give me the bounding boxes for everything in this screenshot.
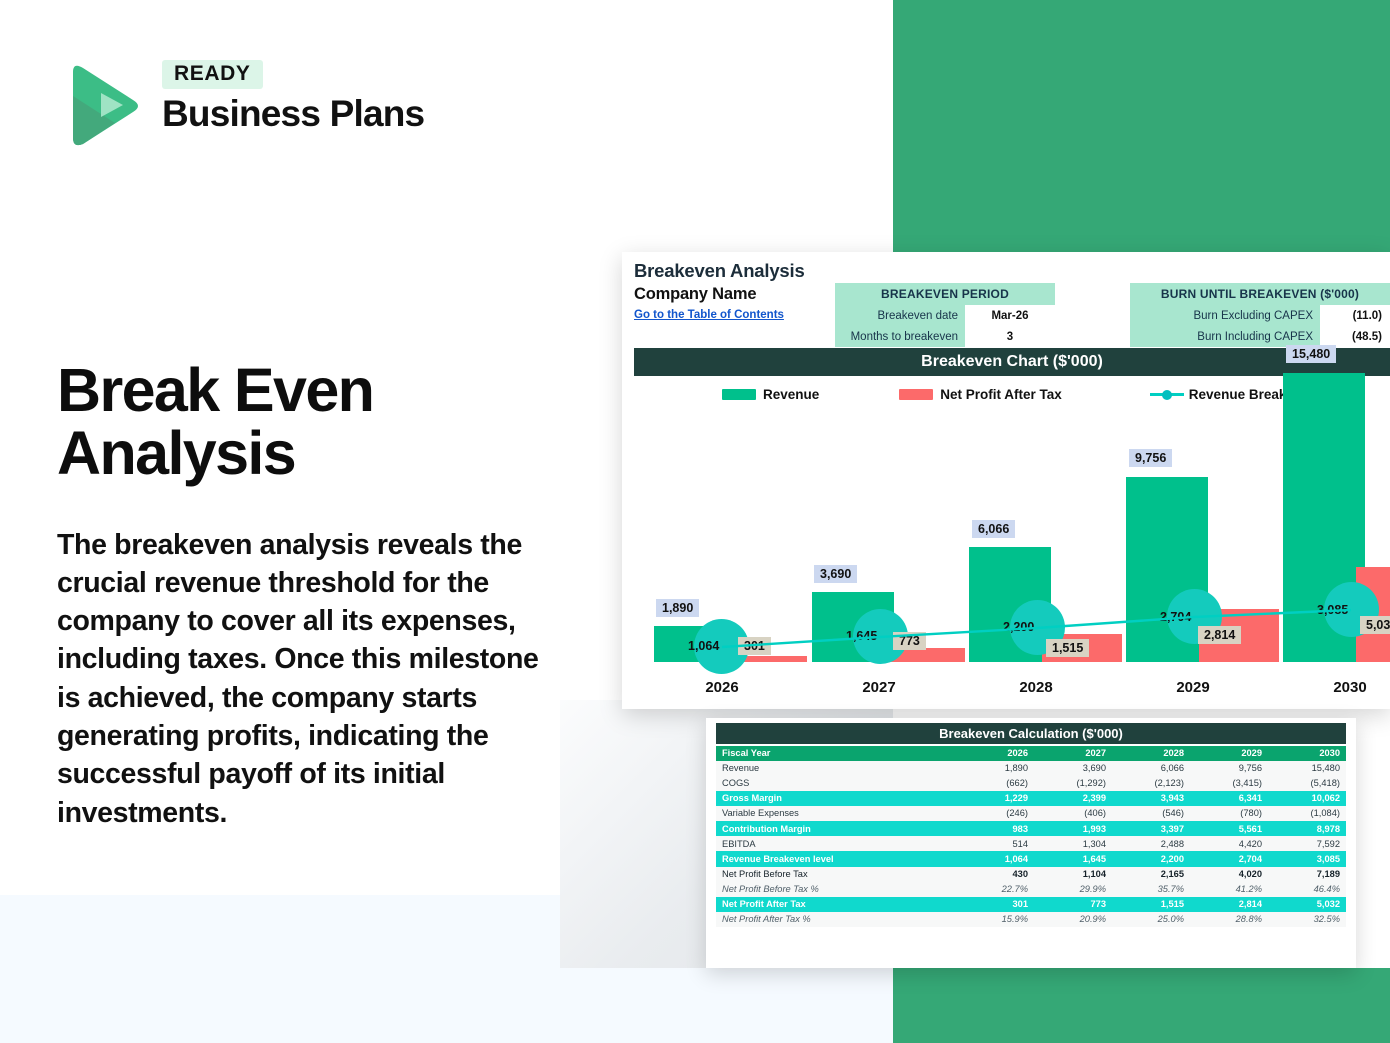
burn-including-capex-row: Burn Including CAPEX (48.5) [1130, 326, 1390, 347]
table-of-contents-link[interactable]: Go to the Table of Contents [634, 309, 784, 321]
table-cell: 983 [956, 821, 1034, 836]
table-cell: (3,415) [1190, 776, 1268, 791]
background-block-bottom-right [893, 968, 1390, 1043]
breakeven-period-card: BREAKEVEN PERIOD Breakeven date Mar-26 M… [835, 283, 1055, 347]
row-label: EBITDA [716, 836, 956, 851]
table-cell: 514 [956, 836, 1034, 851]
table-cell: (1,084) [1268, 806, 1346, 821]
table-cell: 3,943 [1112, 791, 1190, 806]
table-cell: 1,645 [1034, 851, 1112, 866]
table-cell: 5,032 [1268, 897, 1346, 912]
table-cell: 1,104 [1034, 867, 1112, 882]
table-cell: (1,292) [1034, 776, 1112, 791]
x-axis-tick-2028: 2028 [1019, 679, 1052, 696]
brand-name: Business Plans [162, 95, 492, 134]
months-to-breakeven-row: Months to breakeven 3 [835, 326, 1055, 347]
column-header-2030: 2030 [1268, 746, 1346, 761]
burn-including-capex-label: Burn Including CAPEX [1130, 326, 1320, 347]
table-cell: 5,561 [1190, 821, 1268, 836]
table-row: Gross Margin1,2292,3993,9436,34110,062 [716, 791, 1346, 806]
row-label: COGS [716, 776, 956, 791]
table-cell: 8,978 [1268, 821, 1346, 836]
legend-line-breakeven-icon [1150, 389, 1184, 400]
months-to-breakeven-value[interactable]: 3 [965, 326, 1055, 347]
legend-item-net-profit-after-tax[interactable]: Net Profit After Tax [899, 387, 1062, 402]
x-axis-tick-2027: 2027 [862, 679, 895, 696]
breakeven-date-row: Breakeven date Mar-26 [835, 305, 1055, 326]
burn-excluding-capex-value[interactable]: (11.0) [1320, 305, 1390, 326]
breakeven-date-label: Breakeven date [835, 305, 965, 326]
legend-label-npat: Net Profit After Tax [940, 387, 1062, 402]
table-title: Breakeven Calculation ($'000) [716, 723, 1346, 744]
table-cell: 1,993 [1034, 821, 1112, 836]
table-cell: 2,165 [1112, 867, 1190, 882]
x-axis-tick-2029: 2029 [1176, 679, 1209, 696]
column-header-2027: 2027 [1034, 746, 1112, 761]
column-header-fiscal-year: Fiscal Year [716, 746, 956, 761]
table-cell: 32.5% [1268, 912, 1346, 927]
breakeven-date-value[interactable]: Mar-26 [965, 305, 1055, 326]
breakeven-calculation-table: Fiscal Year 2026 2027 2028 2029 2030 Rev… [716, 746, 1346, 927]
x-axis-tick-2026: 2026 [705, 679, 738, 696]
table-cell: 3,690 [1034, 761, 1112, 776]
chart-legend: Revenue Net Profit After Tax Revenue Bre… [634, 382, 1390, 406]
row-label: Revenue [716, 761, 956, 776]
page-description: The breakeven analysis reveals the cruci… [57, 526, 547, 833]
table-cell: 1,304 [1034, 836, 1112, 851]
table-cell: 1,064 [956, 851, 1034, 866]
table-cell: 2,488 [1112, 836, 1190, 851]
table-cell: 1,890 [956, 761, 1034, 776]
brand-logo: READY Business Plans [57, 60, 437, 150]
row-label: Net Profit Before Tax % [716, 882, 956, 897]
ready-badge: READY [162, 60, 263, 89]
sheet-company-name: Company Name [634, 285, 756, 304]
sheet-title: Breakeven Analysis [634, 260, 805, 282]
row-label: Contribution Margin [716, 821, 956, 836]
table-cell: 29.9% [1034, 882, 1112, 897]
table-cell: 35.7% [1112, 882, 1190, 897]
table-cell: 15.9% [956, 912, 1034, 927]
table-row: Contribution Margin9831,9933,3975,5618,9… [716, 821, 1346, 836]
table-cell: (546) [1112, 806, 1190, 821]
column-header-2028: 2028 [1112, 746, 1190, 761]
burn-until-breakeven-card: BURN UNTIL BREAKEVEN ($'000) Burn Exclud… [1130, 283, 1390, 347]
legend-item-revenue[interactable]: Revenue [722, 387, 819, 402]
table-cell: 10,062 [1268, 791, 1346, 806]
row-label: Net Profit After Tax % [716, 912, 956, 927]
table-cell: 7,592 [1268, 836, 1346, 851]
breakeven-level-line [634, 417, 1390, 709]
burn-excluding-capex-label: Burn Excluding CAPEX [1130, 305, 1320, 326]
table-cell: (406) [1034, 806, 1112, 821]
chart-title: Breakeven Chart ($'000) [634, 348, 1390, 376]
brand-wordmark: READY Business Plans [162, 60, 492, 134]
burn-excluding-capex-row: Burn Excluding CAPEX (11.0) [1130, 305, 1390, 326]
breakeven-calculation-panel: Breakeven Calculation ($'000) Fiscal Yea… [706, 718, 1356, 968]
table-cell: 2,704 [1190, 851, 1268, 866]
legend-label-revenue: Revenue [763, 387, 819, 402]
table-cell: 6,341 [1190, 791, 1268, 806]
table-cell: 1,515 [1112, 897, 1190, 912]
table-body: Revenue1,8903,6906,0669,75615,480COGS(66… [716, 761, 1346, 927]
row-label: Net Profit Before Tax [716, 867, 956, 882]
table-cell: 430 [956, 867, 1034, 882]
table-cell: 3,397 [1112, 821, 1190, 836]
chart-plot-area: 1,890 1,064 301 3,690 1,645 773 6,066 2,… [634, 417, 1390, 709]
table-cell: 46.4% [1268, 882, 1346, 897]
table-row: COGS(662)(1,292)(2,123)(3,415)(5,418) [716, 776, 1346, 791]
table-cell: 7,189 [1268, 867, 1346, 882]
legend-swatch-npat-icon [899, 389, 933, 400]
table-cell: 1,229 [956, 791, 1034, 806]
table-cell: (2,123) [1112, 776, 1190, 791]
table-cell: 41.2% [1190, 882, 1268, 897]
table-cell: 301 [956, 897, 1034, 912]
table-row: Net Profit Before Tax4301,1042,1654,0207… [716, 867, 1346, 882]
table-row: EBITDA5141,3042,4884,4207,592 [716, 836, 1346, 851]
months-to-breakeven-label: Months to breakeven [835, 326, 965, 347]
background-block-top-right [893, 0, 1390, 253]
play-triangle-icon [57, 60, 142, 150]
table-cell: 773 [1034, 897, 1112, 912]
table-cell: 28.8% [1190, 912, 1268, 927]
table-cell: 4,020 [1190, 867, 1268, 882]
table-cell: (662) [956, 776, 1034, 791]
column-header-2026: 2026 [956, 746, 1034, 761]
page-title: Break Even Analysis [57, 359, 527, 485]
table-row: Net Profit After Tax %15.9%20.9%25.0%28.… [716, 912, 1346, 927]
table-cell: 2,814 [1190, 897, 1268, 912]
table-cell: (780) [1190, 806, 1268, 821]
x-axis-tick-2030: 2030 [1333, 679, 1366, 696]
table-cell: 2,200 [1112, 851, 1190, 866]
table-row: Revenue Breakeven level1,0641,6452,2002,… [716, 851, 1346, 866]
row-label: Variable Expenses [716, 806, 956, 821]
table-cell: 9,756 [1190, 761, 1268, 776]
table-cell: 2,399 [1034, 791, 1112, 806]
breakeven-period-header: BREAKEVEN PERIOD [835, 283, 1055, 305]
row-label: Net Profit After Tax [716, 897, 956, 912]
legend-swatch-revenue-icon [722, 389, 756, 400]
burn-including-capex-value[interactable]: (48.5) [1320, 326, 1390, 347]
burn-until-breakeven-header: BURN UNTIL BREAKEVEN ($'000) [1130, 283, 1390, 305]
table-row: Variable Expenses(246)(406)(546)(780)(1,… [716, 806, 1346, 821]
table-cell: 25.0% [1112, 912, 1190, 927]
breakeven-chart-panel: Breakeven Analysis Company Name Go to th… [622, 252, 1390, 709]
table-cell: 20.9% [1034, 912, 1112, 927]
row-label: Revenue Breakeven level [716, 851, 956, 866]
table-header-row: Fiscal Year 2026 2027 2028 2029 2030 [716, 746, 1346, 761]
table-row: Net Profit After Tax3017731,5152,8145,03… [716, 897, 1346, 912]
column-header-2029: 2029 [1190, 746, 1268, 761]
table-cell: 22.7% [956, 882, 1034, 897]
table-cell: 3,085 [1268, 851, 1346, 866]
table-cell: 6,066 [1112, 761, 1190, 776]
table-cell: 15,480 [1268, 761, 1346, 776]
row-label: Gross Margin [716, 791, 956, 806]
table-row: Net Profit Before Tax %22.7%29.9%35.7%41… [716, 882, 1346, 897]
table-row: Revenue1,8903,6906,0669,75615,480 [716, 761, 1346, 776]
table-cell: 4,420 [1190, 836, 1268, 851]
table-cell: (5,418) [1268, 776, 1346, 791]
table-cell: (246) [956, 806, 1034, 821]
label-revenue-2030: 15,480 [1286, 345, 1336, 363]
